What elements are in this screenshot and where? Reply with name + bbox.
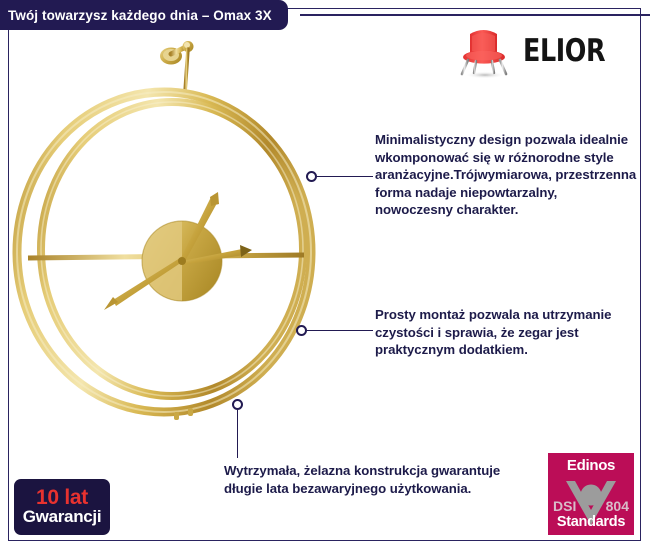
certification-title: Edinos <box>548 457 634 474</box>
callout-leader-design <box>317 176 373 177</box>
callout-text-konstrukcja: Wytrzymała, żelazna konstrukcja gwarantu… <box>224 462 514 497</box>
product-image <box>4 34 334 454</box>
callout-marker-montaz[interactable] <box>296 325 307 336</box>
callout-leader-konstrukcja <box>237 410 238 458</box>
warranty-caption: Gwarancji <box>23 508 102 527</box>
callout-text-design: Minimalistyczny design pozwala idealnie … <box>375 131 637 219</box>
certification-right-code: 804 <box>606 498 629 514</box>
callout-marker-design[interactable] <box>306 171 317 182</box>
brand-name: ELIOR <box>523 36 605 67</box>
warranty-years: 10 lat <box>36 487 88 508</box>
infographic-page: Twój towarzysz każdego dnia – Omax 3X <box>0 0 650 550</box>
warranty-badge: 10 lat Gwarancji <box>14 479 110 535</box>
certification-left-code: DSI <box>553 498 576 514</box>
certification-caption: Standards <box>548 514 634 530</box>
brand-logo: ELIOR <box>455 20 635 82</box>
certification-badge: Edinos DSI 804 Standards <box>548 453 634 535</box>
red-chair-icon <box>455 22 513 80</box>
header-rule <box>300 14 650 16</box>
callout-text-montaz: Prosty montaż pozwala na utrzymanie czys… <box>375 306 630 359</box>
header-banner: Twój towarzysz każdego dnia – Omax 3X <box>0 0 288 30</box>
page-title: Twój towarzysz każdego dnia – Omax 3X <box>8 8 272 23</box>
callout-marker-konstrukcja[interactable] <box>232 399 243 410</box>
callout-leader-montaz <box>307 330 373 331</box>
